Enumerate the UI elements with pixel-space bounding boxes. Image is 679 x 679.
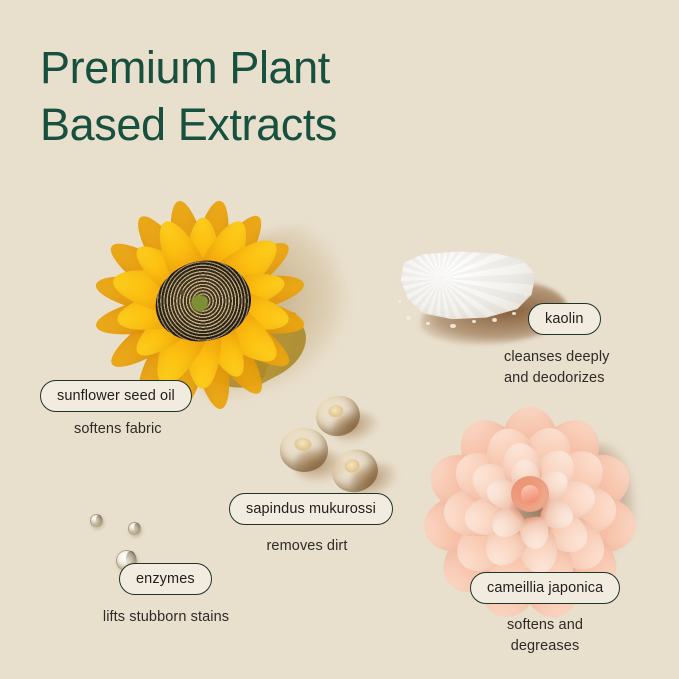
ingredient-poster: Premium Plant Based Extracts sunflower s… xyxy=(0,0,679,679)
caption-enzymes: lifts stubborn stains xyxy=(103,607,229,628)
caption-sunflower-seed-oil: softens fabric xyxy=(74,419,162,440)
caption-cameillia-japonica: softens and degreases xyxy=(478,615,612,656)
enzyme-bead xyxy=(128,522,141,535)
kaolin-crumb xyxy=(472,320,476,323)
kaolin-crumb xyxy=(406,316,411,320)
soap-nuts-image xyxy=(280,396,400,496)
sunflower-image xyxy=(88,196,318,406)
label-kaolin[interactable]: kaolin xyxy=(528,303,601,335)
soap-nut xyxy=(313,393,362,439)
kaolin-crumb xyxy=(426,322,430,325)
label-enzymes[interactable]: enzymes xyxy=(119,563,212,595)
kaolin-crumb xyxy=(398,300,401,303)
page-title: Premium Plant Based Extracts xyxy=(40,40,600,153)
camellia-center xyxy=(511,476,549,512)
enzyme-bead xyxy=(90,514,103,527)
caption-sapindus-mukurossi: removes dirt xyxy=(267,536,348,557)
kaolin-crumb xyxy=(450,324,456,328)
label-sunflower-seed-oil[interactable]: sunflower seed oil xyxy=(40,380,192,412)
label-cameillia-japonica[interactable]: cameillia japonica xyxy=(470,572,620,604)
caption-kaolin: cleanses deeply and deodorizes xyxy=(504,347,610,388)
kaolin-crumb xyxy=(512,312,516,315)
soap-nut xyxy=(278,426,330,475)
kaolin-crumb xyxy=(524,294,527,297)
kaolin-crumb xyxy=(492,318,497,322)
camellia-image xyxy=(440,414,620,574)
label-sapindus-mukurossi[interactable]: sapindus mukurossi xyxy=(229,493,393,525)
kaolin-clay-image xyxy=(392,246,572,351)
